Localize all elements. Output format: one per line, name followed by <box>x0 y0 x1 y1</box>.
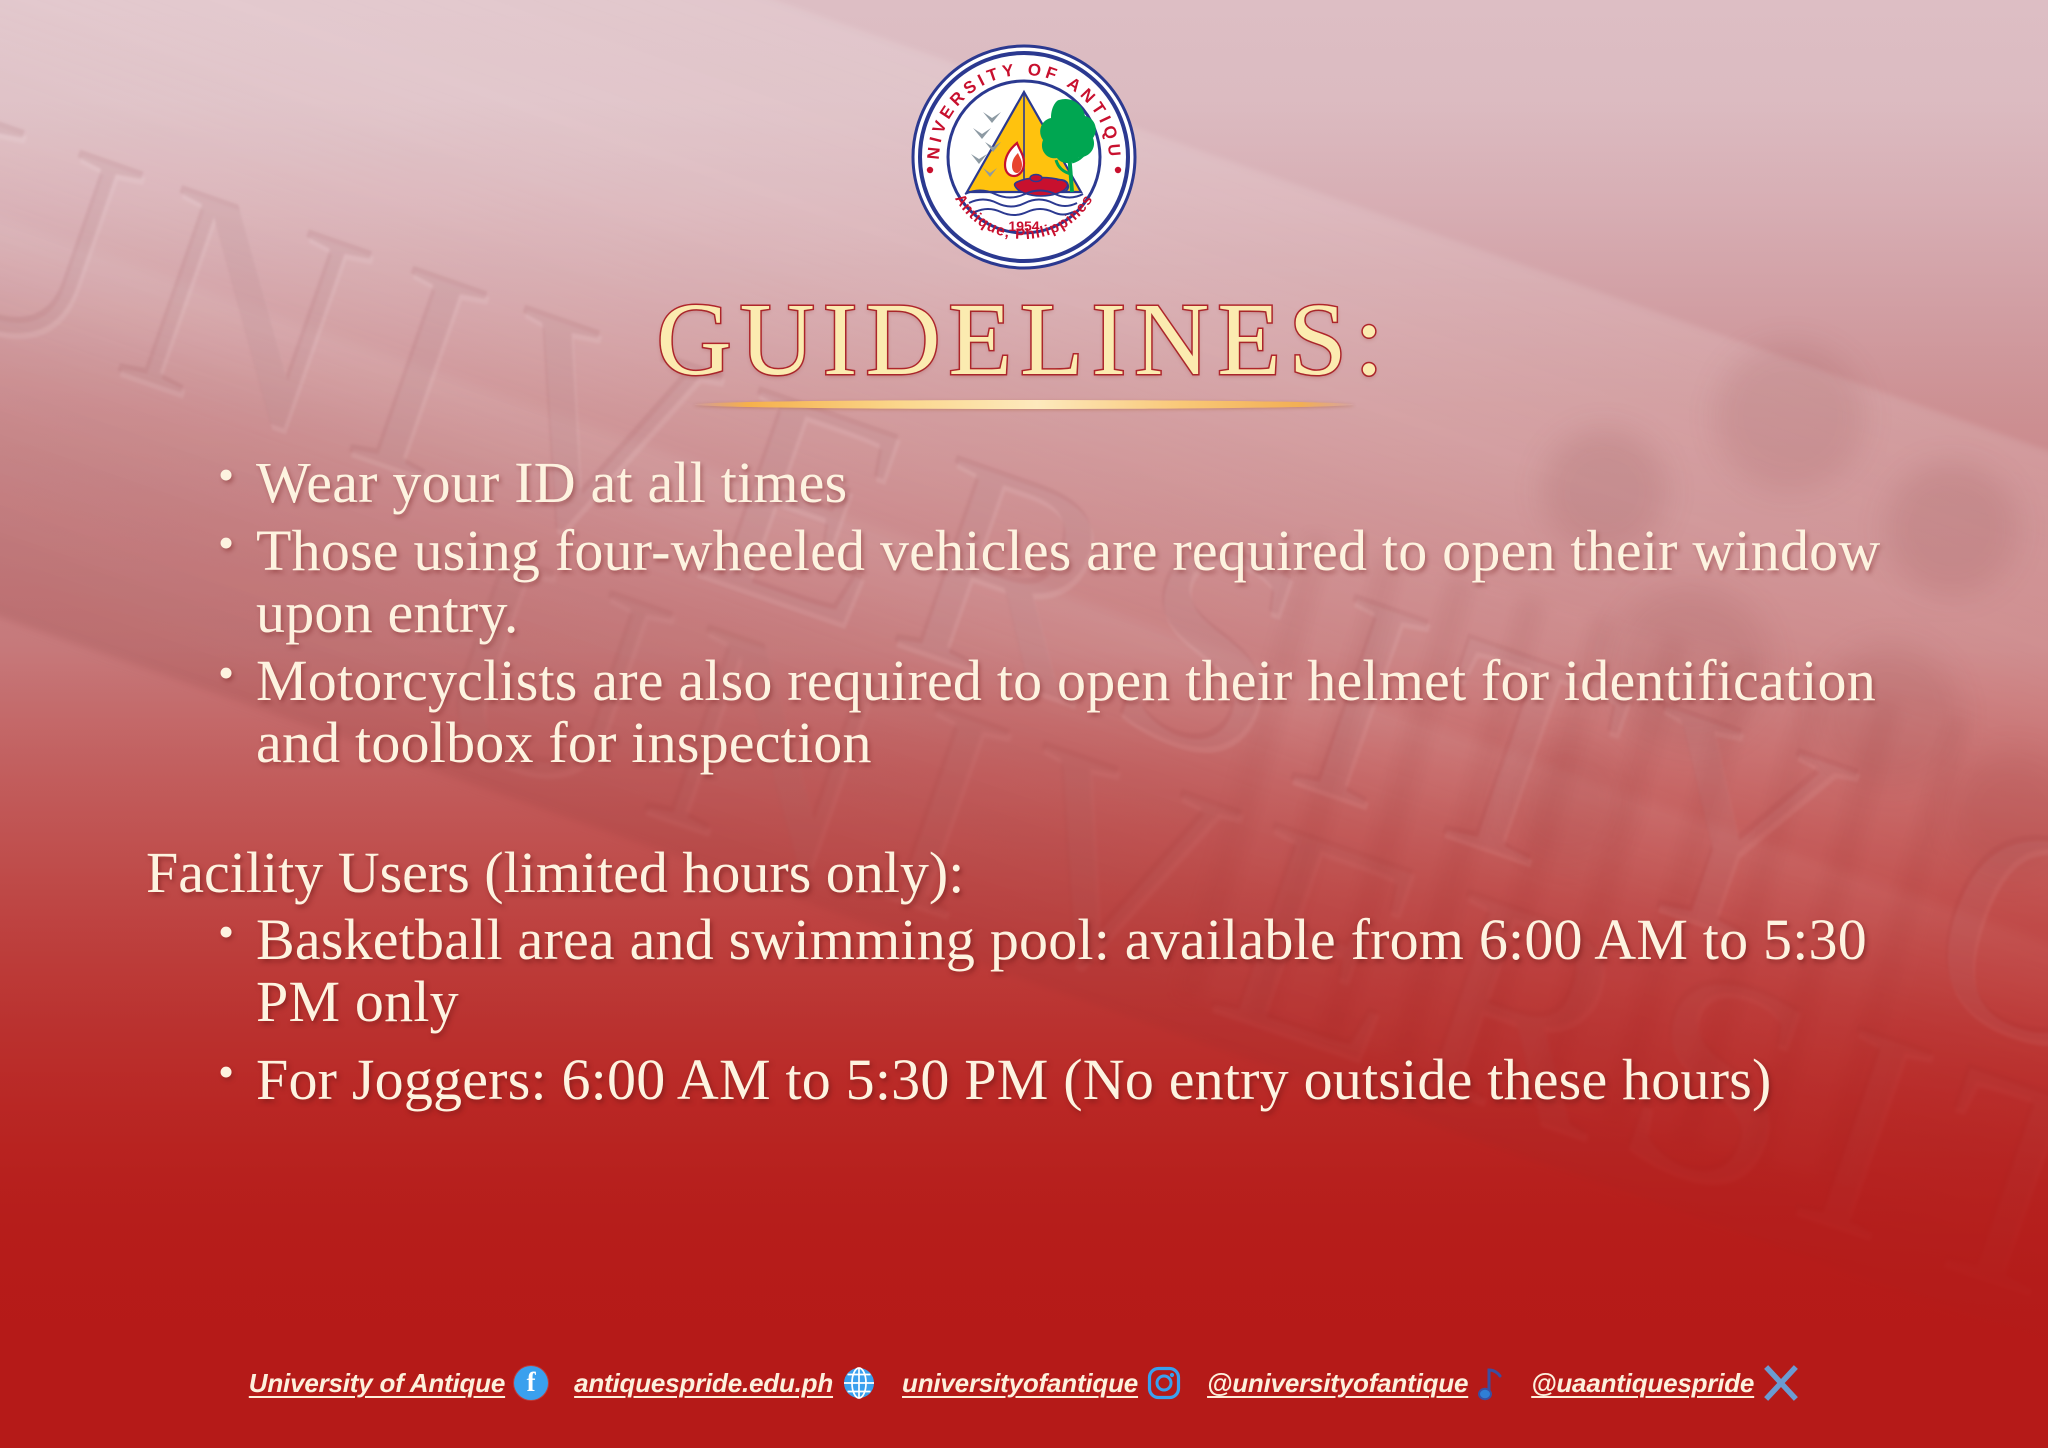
list-item: For Joggers: 6:00 AM to 5:30 PM (No entr… <box>218 1049 1908 1111</box>
poster-content: UNIVERSITY OF ANTIQUE Antique, Philippin… <box>0 0 2048 1448</box>
instagram-icon[interactable] <box>1147 1366 1181 1400</box>
list-item: Wear your ID at all times <box>218 452 1908 514</box>
list-item: Those using four-wheeled vehicles are re… <box>218 520 1908 644</box>
facebook-icon[interactable] <box>514 1366 548 1400</box>
svg-text:1954: 1954 <box>1008 218 1039 234</box>
social-tiktok[interactable]: @universityofantique <box>1207 1364 1505 1402</box>
x-twitter-icon[interactable] <box>1763 1365 1799 1401</box>
social-label-website[interactable]: antiquespride.edu.ph <box>574 1368 833 1399</box>
social-instagram[interactable]: universityofantique <box>902 1366 1181 1400</box>
title-underline-rule <box>694 400 1354 409</box>
social-label-instagram[interactable]: universityofantique <box>902 1368 1138 1399</box>
social-label-tiktok[interactable]: @universityofantique <box>1207 1368 1468 1399</box>
university-seal: UNIVERSITY OF ANTIQUE Antique, Philippin… <box>909 42 1139 272</box>
globe-icon[interactable] <box>842 1366 876 1400</box>
social-facebook[interactable]: University of Antique <box>249 1366 548 1400</box>
rules-list: Wear your ID at all times Those using fo… <box>218 452 1908 774</box>
tiktok-icon[interactable] <box>1477 1364 1505 1402</box>
social-label-facebook[interactable]: University of Antique <box>249 1368 505 1399</box>
facility-users-heading: Facility Users (limited hours only): <box>146 842 2048 905</box>
list-item: Motorcyclists are also required to open … <box>218 650 1908 774</box>
title-block: GUIDELINES: <box>0 288 2048 409</box>
list-item: Basketball area and swimming pool: avail… <box>218 909 1908 1033</box>
social-label-x-twitter[interactable]: @uaantiquespride <box>1531 1368 1754 1399</box>
guidelines-body: Wear your ID at all times Those using fo… <box>0 452 2048 1127</box>
poster-canvas: UNIVERSITY OF ANTIQUE UNIVERSITY OF ANTI… <box>0 0 2048 1448</box>
social-website[interactable]: antiquespride.edu.ph <box>574 1366 876 1400</box>
university-seal-icon: UNIVERSITY OF ANTIQUE Antique, Philippin… <box>909 42 1139 272</box>
facility-list: Basketball area and swimming pool: avail… <box>218 909 1908 1111</box>
page-title: GUIDELINES: <box>656 288 1391 392</box>
footer-social-bar: University of Antique antiquespride.edu.… <box>0 1364 2048 1402</box>
social-x-twitter[interactable]: @uaantiquespride <box>1531 1365 1799 1401</box>
